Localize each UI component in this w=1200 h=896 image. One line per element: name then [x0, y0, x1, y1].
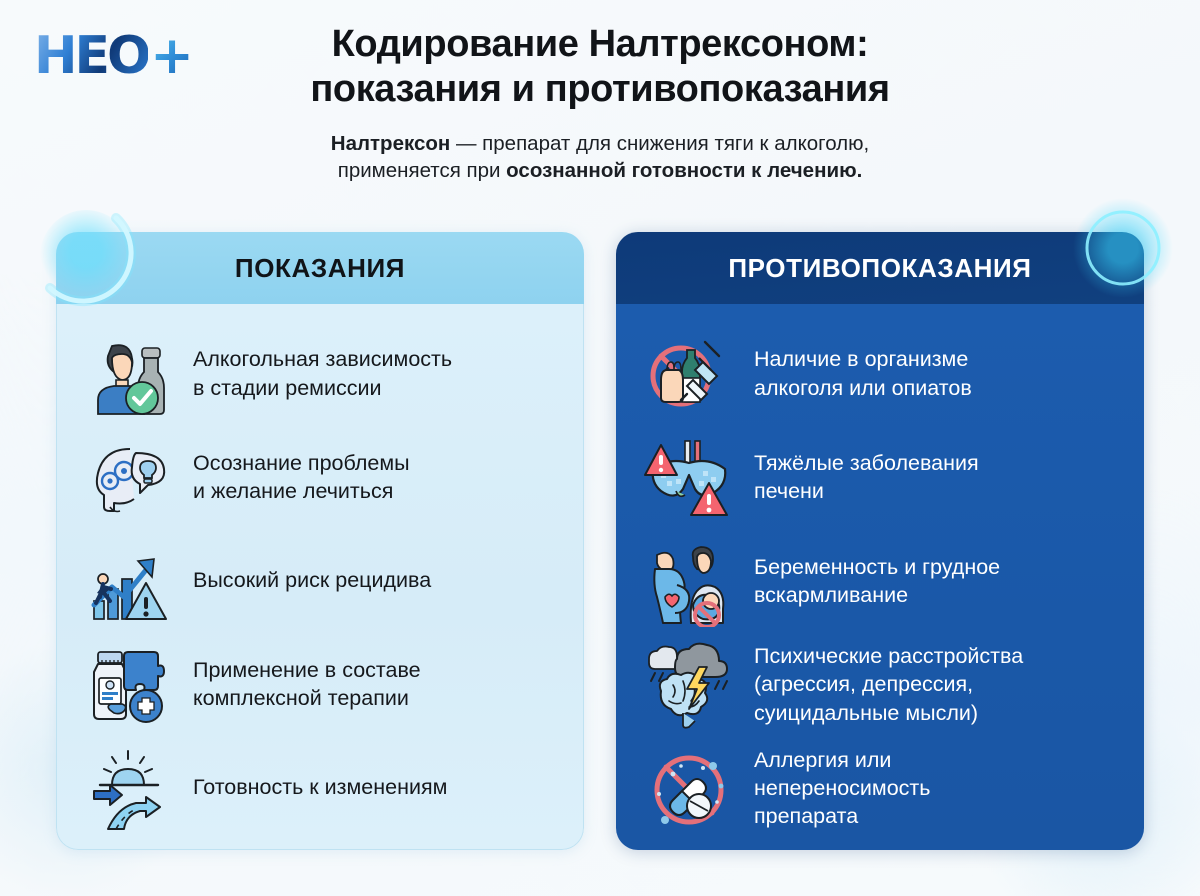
head-gears-idea-icon — [83, 430, 177, 524]
subtitle-emphasis: осознанной готовности к лечению. — [506, 159, 862, 182]
pregnancy-breastfeeding-icon — [642, 534, 736, 628]
page-subtitle: Налтрексон — препарат для снижения тяги … — [170, 130, 1030, 185]
list-item-line1: Высокий риск рецидива — [193, 566, 431, 594]
list-item-line1: Осознание проблемы — [193, 449, 410, 477]
list-item-text: Психические расстройства (агрессия, депр… — [754, 642, 1023, 727]
medicine-puzzle-plus-icon — [83, 637, 177, 731]
brain-storm-icon — [642, 638, 736, 732]
list-item-line2: непереносимость — [754, 774, 930, 802]
list-item-line1: Психические расстройства — [754, 642, 1023, 670]
list-item-line2: алкоголя или опиатов — [754, 374, 972, 402]
no-pills-allergy-icon — [642, 741, 736, 835]
list-item-line1: Применение в составе — [193, 656, 421, 684]
card-contraindications-title: ПРОТИВОПОКАЗАНИЯ — [728, 253, 1031, 284]
logo-plus-icon: + — [150, 30, 193, 82]
card-indications: ПОКАЗАНИЯ — [56, 232, 584, 852]
list-item-line1: Аллергия или — [754, 746, 930, 774]
list-item-line1: Беременность и грудное — [754, 553, 1000, 581]
list-item-line2: печени — [754, 477, 979, 505]
cards-container: ПОКАЗАНИЯ — [0, 232, 1200, 852]
list-item[interactable]: Алкогольная зависимость в стадии ремисси… — [83, 322, 557, 425]
subtitle-line1-rest: — препарат для снижения тяги к алкоголю, — [450, 132, 869, 155]
card-indications-inner: ПОКАЗАНИЯ — [56, 232, 584, 850]
list-item-text: Осознание проблемы и желание лечиться — [193, 449, 410, 506]
list-item-text: Беременность и грудное вскармливание — [754, 553, 1000, 610]
card-contraindications: ПРОТИВОПОКАЗАНИЯ — [616, 232, 1144, 852]
list-item-line2: вскармливание — [754, 581, 1000, 609]
list-item-text: Наличие в организме алкоголя или опиатов — [754, 345, 972, 402]
list-item-text: Применение в составе комплексной терапии — [193, 656, 421, 713]
list-item-line3: суицидальные мысли) — [754, 699, 1023, 727]
list-item-line1: Наличие в организме — [754, 345, 972, 373]
subtitle-drug-name: Налтрексон — [331, 132, 451, 155]
list-item[interactable]: Беременность и грудное вскармливание — [642, 529, 1118, 633]
list-item[interactable]: Тяжёлые заболевания печени — [642, 426, 1118, 530]
list-item-line1: Алкогольная зависимость — [193, 345, 452, 373]
page-title: Кодирование Налтрексоном: показания и пр… — [170, 22, 1030, 112]
list-item-text: Тяжёлые заболевания печени — [754, 449, 979, 506]
page-title-line1: Кодирование Налтрексоном: — [170, 22, 1030, 67]
sunrise-road-arrow-icon — [83, 740, 177, 834]
list-item-text: Аллергия или непереносимость препарата — [754, 746, 930, 831]
list-item-text: Готовность к изменениям — [193, 773, 447, 801]
list-item-line2: и желание лечиться — [193, 477, 410, 505]
list-item[interactable]: Наличие в организме алкоголя или опиатов — [642, 322, 1118, 426]
list-item-line1: Тяжёлые заболевания — [754, 449, 979, 477]
list-item-line3: препарата — [754, 802, 930, 830]
list-item-line1: Готовность к изменениям — [193, 773, 447, 801]
list-item[interactable]: Осознание проблемы и желание лечиться — [83, 425, 557, 528]
neo-plus-logo: HEO + — [34, 26, 210, 86]
list-item[interactable]: Психические расстройства (агрессия, депр… — [642, 633, 1118, 737]
page-header: HEO + Кодирование Налтрексоном: показани… — [0, 0, 1200, 212]
card-contraindications-body: Наличие в организме алкоголя или опиатов — [616, 304, 1144, 850]
list-item[interactable]: Высокий риск рецидива — [83, 529, 557, 632]
list-item-line2: комплексной терапии — [193, 684, 421, 712]
person-bottle-check-icon — [83, 327, 177, 421]
liver-warning-icon — [642, 430, 736, 524]
card-contraindications-header: ПРОТИВОПОКАЗАНИЯ — [616, 232, 1144, 304]
logo-wordmark: HEO — [34, 30, 148, 82]
card-indications-header: ПОКАЗАНИЯ — [56, 232, 584, 304]
list-item-line2: в стадии ремиссии — [193, 374, 452, 402]
card-indications-title: ПОКАЗАНИЯ — [235, 253, 405, 284]
list-item-text: Высокий риск рецидива — [193, 566, 431, 594]
risk-chart-warning-icon — [83, 534, 177, 628]
list-item[interactable]: Готовность к изменениям — [83, 736, 557, 839]
card-indications-body: Алкогольная зависимость в стадии ремисси… — [56, 304, 584, 850]
list-item-line2: (агрессия, депрессия, — [754, 670, 1023, 698]
page-title-line2: показания и противопоказания — [170, 67, 1030, 112]
subtitle-line-1: Налтрексон — препарат для снижения тяги … — [170, 130, 1030, 158]
list-item-text: Алкогольная зависимость в стадии ремисси… — [193, 345, 452, 402]
no-alcohol-syringe-icon — [642, 327, 736, 421]
card-contraindications-inner: ПРОТИВОПОКАЗАНИЯ — [616, 232, 1144, 850]
subtitle-line2-rest: применяется при — [338, 159, 506, 182]
subtitle-line-2: применяется при осознанной готовности к … — [170, 157, 1030, 185]
list-item[interactable]: Применение в составе комплексной терапии — [83, 632, 557, 735]
list-item[interactable]: Аллергия или непереносимость препарата — [642, 736, 1118, 840]
